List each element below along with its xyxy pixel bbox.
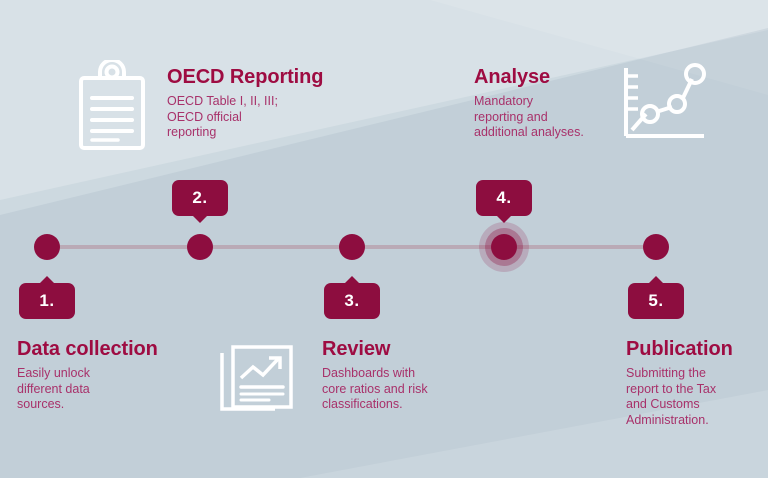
step-badge-5[interactable]: 5. [628, 283, 684, 319]
step-description-publication: Submitting the report to the Tax and Cus… [626, 366, 766, 428]
step-badge-2-label: 2. [192, 188, 207, 208]
timeline-dot-2[interactable] [187, 234, 213, 260]
badge-pointer-5 [648, 276, 664, 284]
step-title-oecd-reporting: OECD Reporting [167, 66, 323, 89]
timeline-segment-1-2 [47, 245, 200, 249]
infographic-canvas: OECD Reporting OECD Table I, II, III; OE… [0, 0, 768, 478]
step-title-analyse: Analyse [474, 66, 550, 89]
step-description-oecd-reporting: OECD Table I, II, III; OECD official rep… [167, 94, 347, 141]
documents-chart-icon [217, 345, 299, 417]
step-badge-4[interactable]: 4. [476, 180, 532, 216]
step-description-review: Dashboards with core ratios and risk cla… [322, 366, 487, 413]
step-badge-1[interactable]: 1. [19, 283, 75, 319]
timeline-dot-5[interactable] [643, 234, 669, 260]
step-badge-1-label: 1. [39, 291, 54, 311]
timeline-dot-1[interactable] [34, 234, 60, 260]
step-description-analyse: Mandatory reporting and additional analy… [474, 94, 614, 141]
step-badge-3[interactable]: 3. [324, 283, 380, 319]
step-badge-4-label: 4. [496, 188, 511, 208]
step-badge-3-label: 3. [344, 291, 359, 311]
badge-pointer-1 [39, 276, 55, 284]
badge-pointer-4 [496, 215, 512, 223]
timeline-segment-2-3 [200, 245, 352, 249]
step-title-publication: Publication [626, 338, 733, 361]
step-title-review: Review [322, 338, 390, 361]
step-title-data-collection: Data collection [17, 338, 158, 361]
step-description-data-collection: Easily unlock different data sources. [17, 366, 167, 413]
timeline-dot-3[interactable] [339, 234, 365, 260]
step-badge-5-label: 5. [648, 291, 663, 311]
clipboard-icon [76, 60, 148, 152]
badge-pointer-3 [344, 276, 360, 284]
line-chart-icon [614, 62, 710, 148]
badge-pointer-2 [192, 215, 208, 223]
step-badge-2[interactable]: 2. [172, 180, 228, 216]
timeline-dot-4-active[interactable] [491, 234, 517, 260]
